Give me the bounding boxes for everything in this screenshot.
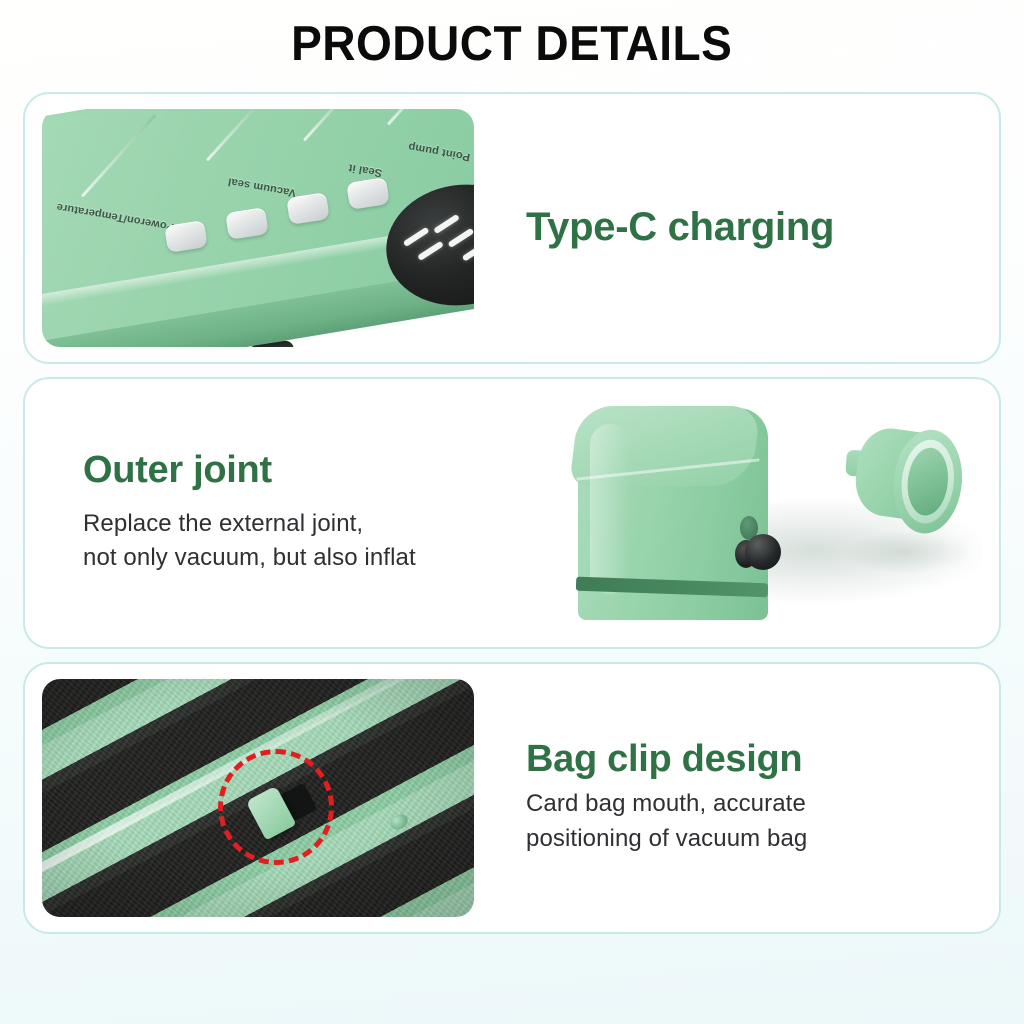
feature-card-bag-clip-design: Bag clip design Card bag mouth, accurate…	[23, 662, 1001, 934]
feature-text-outer-joint: Outer joint Replace the external joint, …	[25, 450, 550, 577]
led-segment	[403, 227, 430, 247]
feature-subtext-outer-joint-line-1: Replace the external joint,	[83, 507, 530, 542]
product-image-outer-joint	[550, 394, 982, 632]
page-title: PRODUCT DETAILS	[291, 18, 732, 72]
led-segment	[433, 214, 460, 234]
feature-card-list: Poweron/Temperature Vacuum seal Seal it …	[23, 92, 1001, 934]
feature-text-type-c-charging: Type-C charging	[474, 206, 999, 249]
led-segment	[462, 242, 474, 261]
image-vignette	[42, 679, 474, 917]
feature-headline-type-c-charging: Type-C charging	[526, 206, 969, 249]
product-image-bag-clip-design	[42, 679, 474, 917]
feature-card-outer-joint: Outer joint Replace the external joint, …	[23, 377, 1001, 649]
product-details-page: PRODUCT DETAILS Poweron/Temperature Vacu…	[0, 0, 1024, 1024]
feature-subtext-outer-joint-line-2: not only vacuum, but also inflat	[83, 541, 530, 576]
feature-card-type-c-charging: Poweron/Temperature Vacuum seal Seal it …	[23, 92, 1001, 364]
feature-headline-bag-clip-design: Bag clip design	[526, 739, 969, 780]
product-image-type-c-charging: Poweron/Temperature Vacuum seal Seal it …	[42, 109, 474, 347]
led-segment	[448, 228, 474, 248]
feature-subtext-bag-clip-line-1: Card bag mouth, accurate	[526, 787, 969, 822]
pump-highlight	[590, 424, 630, 594]
led-segment	[417, 241, 444, 261]
feature-subtext-bag-clip-line-2: positioning of vacuum bag	[526, 822, 969, 857]
feature-text-bag-clip-design: Bag clip design Card bag mouth, accurate…	[474, 739, 999, 857]
feature-headline-outer-joint: Outer joint	[83, 450, 530, 491]
rubber-plug	[745, 534, 781, 570]
